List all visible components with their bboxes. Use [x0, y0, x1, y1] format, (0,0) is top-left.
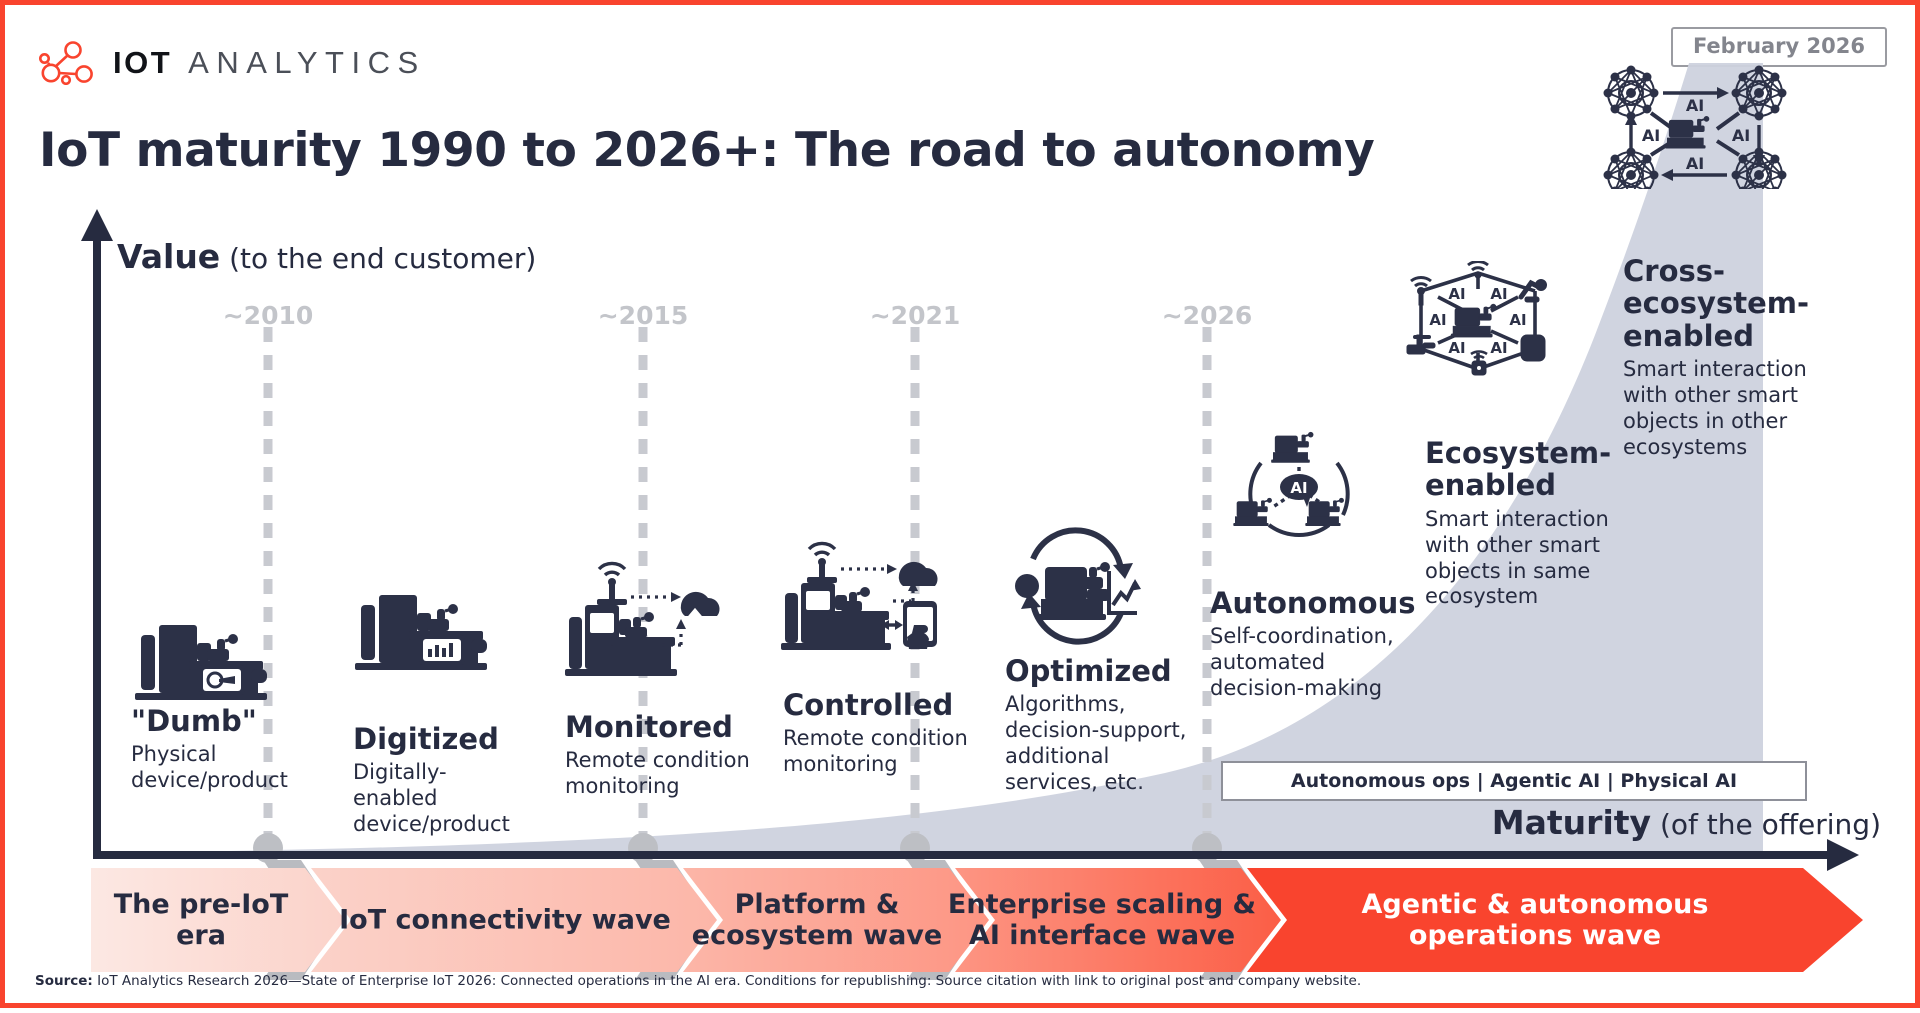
lathe-machine-display-icon — [353, 583, 493, 688]
x-axis-label-strong: Maturity — [1492, 803, 1651, 842]
wave-segment-enterprise-scaling — [955, 868, 1281, 972]
three-machines-ai-icon: AI — [1233, 429, 1365, 557]
infographic-frame: IOT ANALYTICS February 2026 IoT maturity… — [0, 0, 1920, 1008]
machine-optimization-loop-icon — [1005, 521, 1150, 651]
stage-digitized-title: Digitized — [353, 723, 528, 755]
y-axis-label: Value (to the end customer) — [117, 237, 536, 276]
logo-text-analytics: ANALYTICS — [188, 45, 425, 81]
stage-digitized-desc: Digitally-enabled device/product — [353, 760, 528, 837]
svg-text:AI: AI — [1686, 96, 1704, 115]
svg-text:AI: AI — [1509, 311, 1526, 329]
stage-controlled-title: Controlled — [783, 689, 983, 721]
wave-segment-iot-connectivity — [311, 868, 717, 972]
stage-monitored-title: Monitored — [565, 711, 765, 743]
stage-monitored: Monitored Remote condition monitoring — [565, 711, 765, 800]
stage-cross-ecosystem-enabled: Cross-ecosystem-enabled Smart interactio… — [1623, 255, 1813, 461]
wave-segment-platform-ecosystem — [683, 868, 989, 972]
page-title: IoT maturity 1990 to 2026+: The road to … — [39, 123, 1374, 178]
stage-ecosystem-enabled: Ecosystem-enabled Smart interaction with… — [1425, 437, 1635, 610]
x-axis-label: Maturity (of the offering) — [1492, 803, 1881, 842]
hexagon-ai-ecosystem-icon: AI AI AI AI AI AI — [1393, 261, 1563, 381]
svg-text:AI: AI — [1429, 311, 1446, 329]
lathe-machine-icon — [133, 613, 273, 718]
autonomous-ops-callout-label: Autonomous ops | Agentic AI | Physical A… — [1291, 770, 1737, 792]
svg-text:AI: AI — [1290, 479, 1307, 497]
stage-cross-ecosystem-enabled-title: Cross-ecosystem-enabled — [1623, 255, 1813, 352]
x-axis-label-light: (of the offering) — [1651, 808, 1881, 841]
stage-autonomous-title: Autonomous — [1210, 587, 1420, 619]
source-prefix: Source: — [35, 973, 93, 989]
svg-text:AI: AI — [1448, 339, 1465, 357]
wave-banner — [5, 860, 1920, 980]
logo-text-iot: IOT — [113, 45, 172, 81]
svg-text:AI: AI — [1686, 154, 1704, 173]
wave-segment-pre-iot — [91, 868, 345, 972]
source-footer: Source: IoT Analytics Research 2026—Stat… — [35, 973, 1361, 989]
y-axis-label-light: (to the end customer) — [220, 242, 536, 275]
year-marker-2015: ~2015 — [598, 301, 689, 330]
year-marker-2010: ~2010 — [223, 301, 314, 330]
year-marker-2026: ~2026 — [1162, 301, 1253, 330]
year-marker-2021: ~2021 — [870, 301, 961, 330]
stage-optimized-title: Optimized — [1005, 655, 1205, 687]
wave-segment-agentic-autonomous — [1247, 868, 1863, 972]
stage-digitized: Digitized Digitally-enabled device/produ… — [353, 723, 528, 838]
machine-cloud-tablet-icon — [781, 539, 951, 674]
y-axis-label-strong: Value — [117, 237, 220, 276]
stage-cross-ecosystem-enabled-desc: Smart interaction with other smart objec… — [1623, 357, 1813, 460]
stage-dumb-title: "Dumb" — [131, 705, 361, 737]
date-badge: February 2026 — [1671, 27, 1887, 67]
stage-autonomous: Autonomous Self-coordination, automated … — [1210, 587, 1420, 702]
stage-monitored-desc: Remote condition monitoring — [565, 748, 765, 800]
stage-ecosystem-enabled-desc: Smart interaction with other smart objec… — [1425, 507, 1635, 610]
stage-autonomous-desc: Self-coordination, automated decision-ma… — [1210, 624, 1420, 701]
stage-controlled: Controlled Remote condition monitoring — [783, 689, 983, 778]
stage-dumb-desc: Physical device/product — [131, 742, 361, 794]
y-axis — [81, 209, 113, 857]
stage-controlled-desc: Remote condition monitoring — [783, 726, 983, 778]
mesh-network-ai-icon: AI AI AI AI — [1601, 63, 1789, 189]
stage-ecosystem-enabled-title: Ecosystem-enabled — [1425, 437, 1635, 502]
svg-text:AI: AI — [1490, 339, 1507, 357]
svg-text:AI: AI — [1448, 285, 1465, 303]
stage-optimized: Optimized Algorithms, decision-support, … — [1005, 655, 1205, 796]
autonomous-ops-callout-box: Autonomous ops | Agentic AI | Physical A… — [1221, 761, 1807, 801]
source-text: IoT Analytics Research 2026—State of Ent… — [93, 973, 1361, 989]
iot-network-logo-icon — [39, 41, 97, 85]
stage-dumb: "Dumb" Physical device/product — [131, 705, 361, 794]
svg-text:AI: AI — [1642, 126, 1660, 145]
svg-text:AI: AI — [1490, 285, 1507, 303]
brand-logo: IOT ANALYTICS — [39, 41, 426, 85]
stage-optimized-desc: Algorithms, decision-support, additional… — [1005, 692, 1205, 795]
machine-cloud-antenna-icon — [563, 561, 723, 691]
svg-text:AI: AI — [1732, 126, 1750, 145]
